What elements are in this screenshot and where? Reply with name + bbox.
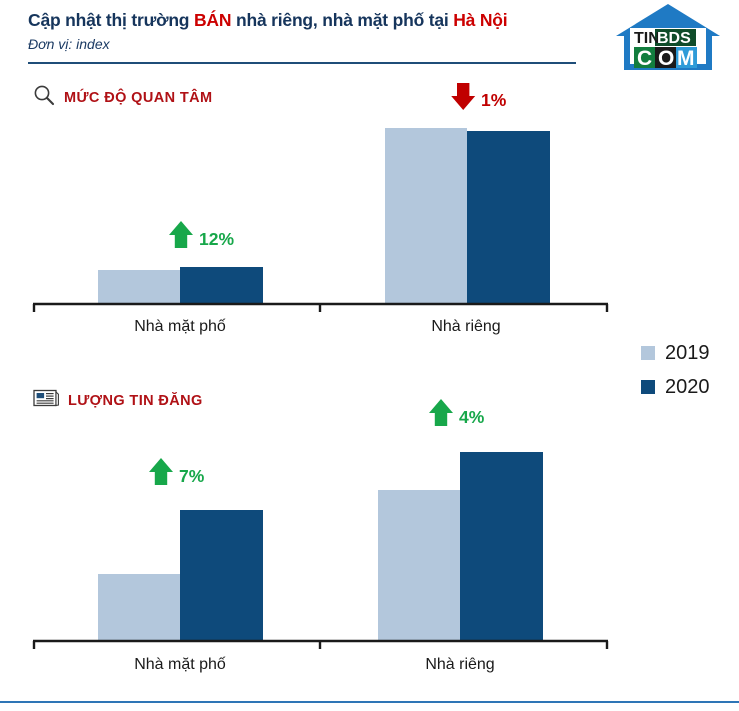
legend-swatch-2020 [641, 380, 655, 394]
annotation-value-nha-rieng: 4% [459, 407, 485, 427]
header-divider [28, 62, 576, 64]
bar-2019-nha-rieng [378, 490, 460, 640]
title-segment-3: nhà riêng, nhà mặt phố tại [231, 10, 453, 30]
chart-legend: 2019 2020 [641, 336, 739, 404]
arrow-down-icon [451, 83, 475, 110]
arrow-up-icon [429, 399, 453, 426]
bar-2019-nha-rieng [385, 128, 467, 303]
header: Cập nhật thị trường BÁN nhà riêng, nhà m… [0, 0, 739, 72]
svg-text:M: M [677, 47, 695, 70]
newspaper-icon [33, 388, 59, 413]
section-header-interest: MỨC ĐỘ QUAN TÂM [33, 84, 213, 111]
x-axis-label-nha-mat-pho: Nhà mặt phố [134, 656, 226, 673]
x-axis-label-nha-mat-pho: Nhà mặt phố [134, 318, 226, 335]
annotation-value-nha-rieng: 1% [481, 90, 507, 110]
svg-text:C: C [637, 47, 652, 70]
title-accent-ban: BÁN [194, 10, 231, 30]
page-subtitle: Đơn vị: index [28, 36, 110, 52]
legend-item-2019[interactable]: 2019 [641, 336, 739, 370]
section-label-interest: MỨC ĐỘ QUAN TÂM [64, 90, 213, 106]
arrow-up-icon [149, 458, 173, 485]
legend-swatch-2019 [641, 346, 655, 360]
search-icon [33, 84, 55, 111]
svg-text:BDS: BDS [657, 30, 691, 47]
svg-text:O: O [658, 47, 674, 70]
x-axis-label-nha-rieng: Nhà riêng [431, 318, 500, 335]
legend-label-2020: 2020 [665, 376, 710, 399]
title-accent-hanoi: Hà Nội [453, 10, 507, 30]
bar-2019-nha-mat-pho [98, 270, 180, 303]
bar-2020-nha-rieng [467, 131, 550, 303]
annotation-nha-mat-pho: 7% [149, 458, 205, 486]
annotation-value-nha-mat-pho: 12% [199, 229, 234, 249]
bar-2019-nha-mat-pho [98, 574, 180, 640]
page-title: Cập nhật thị trường BÁN nhà riêng, nhà m… [28, 10, 507, 31]
bar-2020-nha-rieng [460, 452, 543, 640]
title-segment-1: Cập nhật thị trường [28, 10, 194, 30]
x-axis-label-nha-rieng: Nhà riêng [425, 656, 494, 673]
annotation-value-nha-mat-pho: 7% [179, 466, 205, 486]
section-label-listings: LƯỢNG TIN ĐĂNG [68, 393, 203, 409]
chart-muc-do-quan-tam: Nhà mặt phố Nhà riêng 12% 1% [0, 108, 660, 343]
chart-luong-tin-dang: Nhà mặt phố Nhà riêng 7% 4% [0, 432, 660, 687]
footer-divider [0, 701, 739, 703]
bar-2020-nha-mat-pho [180, 267, 263, 303]
logo-house-icon: TIN BDS C O M [612, 2, 724, 72]
arrow-up-icon [169, 221, 193, 248]
annotation-nha-rieng: 1% [451, 83, 507, 110]
section-header-listings: LƯỢNG TIN ĐĂNG [33, 388, 203, 413]
legend-item-2020[interactable]: 2020 [641, 370, 739, 404]
legend-label-2019: 2019 [665, 342, 710, 365]
bar-2020-nha-mat-pho [180, 510, 263, 640]
svg-text:TIN: TIN [634, 30, 660, 47]
tinbds-logo: TIN BDS C O M [612, 2, 724, 72]
annotation-nha-mat-pho: 12% [169, 221, 234, 249]
annotation-nha-rieng: 4% [429, 399, 485, 427]
